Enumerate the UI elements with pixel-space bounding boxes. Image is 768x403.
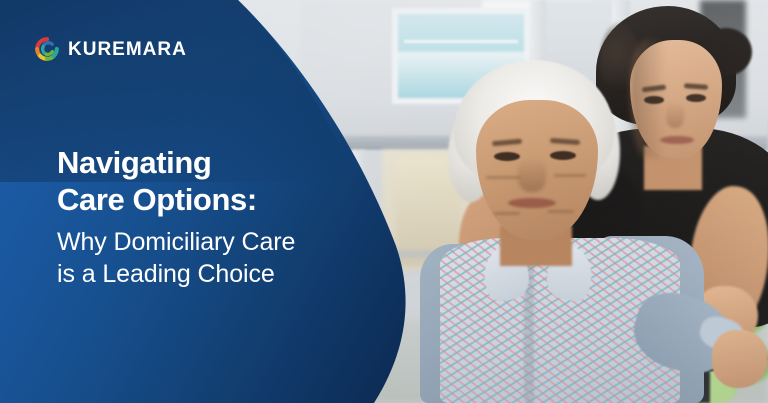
elderly-nose [518, 158, 546, 192]
elderly-wrinkle-1 [486, 176, 520, 179]
headline-line-2: Care Options: [57, 182, 387, 219]
headline-line-1: Navigating [57, 145, 387, 182]
headline-line-3: Why Domiciliary Care [57, 227, 387, 259]
caregiver-mouth [660, 136, 694, 144]
elderly-eye-left [494, 152, 520, 161]
circular-swirl-icon [34, 36, 60, 62]
elderly-mouth [508, 198, 556, 208]
elderly-wrinkle-4 [548, 210, 574, 213]
elderly-wrinkle-2 [554, 174, 586, 177]
headline-block: Navigating Care Options: Why Domiciliary… [57, 145, 387, 290]
elderly-hand-right [712, 330, 768, 388]
hero-banner: KUREMARA Navigating Care Options: Why Do… [0, 0, 768, 403]
elderly-eye-right [550, 151, 576, 160]
caregiver-eye-right [686, 94, 706, 102]
brand-name: KUREMARA [68, 40, 187, 59]
caregiver-nose [666, 102, 684, 128]
elderly-wrinkle-3 [494, 212, 520, 215]
headline-spacer [57, 218, 387, 227]
brand-logo[interactable]: KUREMARA [34, 36, 187, 62]
caregiver-eye-left [644, 96, 664, 104]
headline-line-4: is a Leading Choice [57, 259, 387, 291]
